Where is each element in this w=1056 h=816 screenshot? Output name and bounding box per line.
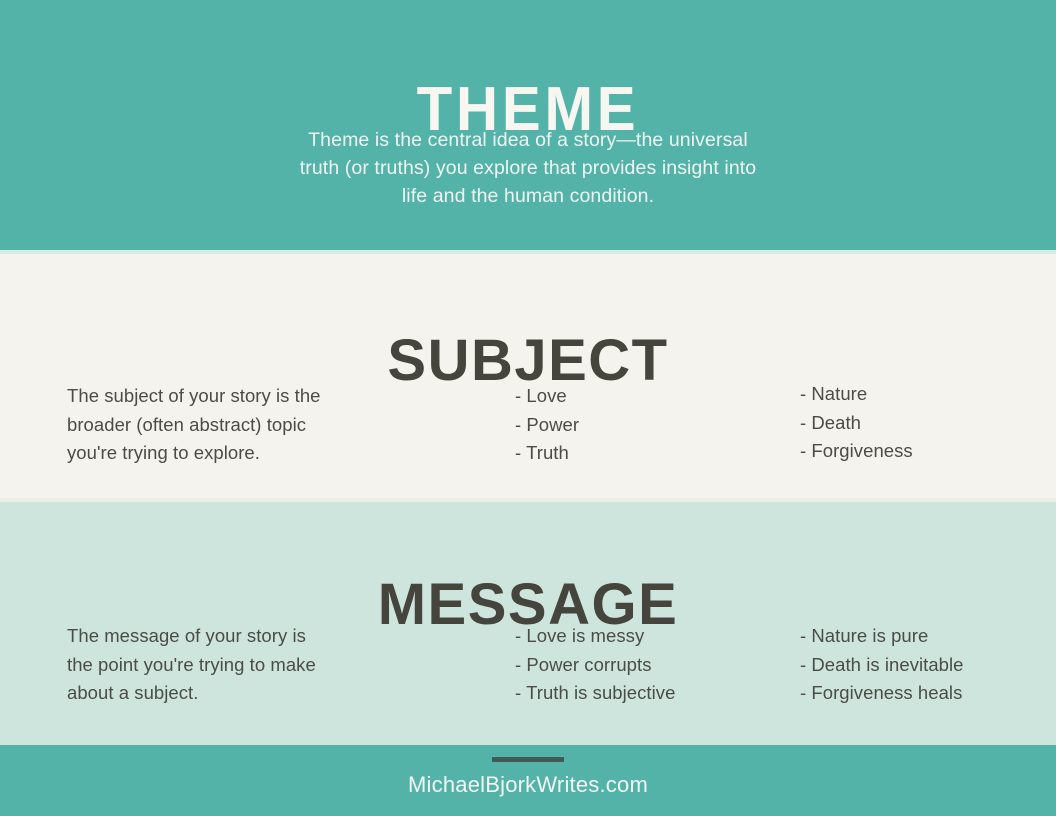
message-columns: The message of your story is the point y… [0, 622, 1056, 722]
message-description: The message of your story is the point y… [67, 622, 467, 708]
message-description-line-1: The message of your story is [67, 622, 467, 651]
footer-website-link[interactable]: MichaelBjorkWrites.com [0, 772, 1056, 798]
subject-examples-column-2: - Nature - Death - Forgiveness [800, 380, 1050, 466]
theme-subtitle-line-1: Theme is the central idea of a story—the… [228, 126, 828, 154]
footer-divider-rule [492, 757, 564, 762]
subject-columns: The subject of your story is the broader… [0, 382, 1056, 482]
list-item: - Death is inevitable [800, 651, 1050, 680]
subject-description: The subject of your story is the broader… [67, 382, 467, 468]
theme-subtitle-line-2: truth (or truths) you explore that provi… [228, 154, 828, 182]
message-description-line-3: about a subject. [67, 679, 467, 708]
subject-description-line-2: broader (often abstract) topic [67, 411, 467, 440]
theme-subtitle-line-3: life and the human condition. [228, 182, 828, 210]
theme-subtitle: Theme is the central idea of a story—the… [228, 126, 828, 210]
list-item: - Nature [800, 380, 1050, 409]
list-item: - Love [515, 382, 795, 411]
list-item: - Truth is subjective [515, 679, 795, 708]
list-item: - Truth [515, 439, 795, 468]
subject-description-line-3: you're trying to explore. [67, 439, 467, 468]
subject-examples-column-1: - Love - Power - Truth [515, 382, 795, 468]
list-item: - Power [515, 411, 795, 440]
list-item: - Forgiveness [800, 437, 1050, 466]
list-item: - Forgiveness heals [800, 679, 1050, 708]
list-item: - Power corrupts [515, 651, 795, 680]
message-description-line-2: the point you're trying to make [67, 651, 467, 680]
list-item: - Nature is pure [800, 622, 1050, 651]
message-examples-column-2: - Nature is pure - Death is inevitable -… [800, 622, 1050, 708]
list-item: - Death [800, 409, 1050, 438]
message-examples-column-1: - Love is messy - Power corrupts - Truth… [515, 622, 795, 708]
subject-description-line-1: The subject of your story is the [67, 382, 467, 411]
list-item: - Love is messy [515, 622, 795, 651]
infographic-poster: THEME Theme is the central idea of a sto… [0, 0, 1056, 816]
